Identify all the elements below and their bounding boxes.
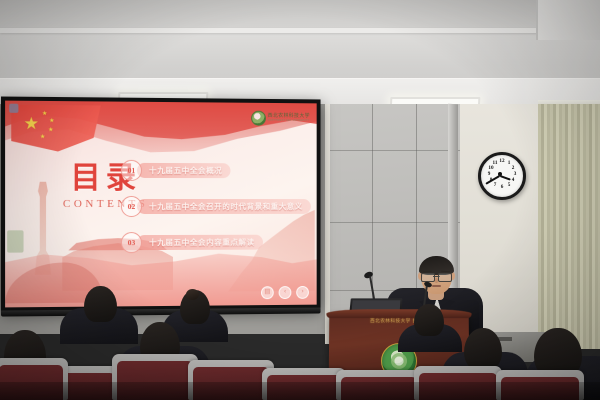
clock-numeral: 9	[485, 171, 493, 177]
flag-star: ★	[24, 115, 40, 132]
wall-clock: 12 1 2 3 4 5 6 7 8 9 10 11	[478, 152, 526, 200]
slide-next-button[interactable]: ›	[296, 286, 309, 299]
university-logo: 西北农林科技大学 NORTHWEST A&F UNIVERSITY	[251, 111, 310, 126]
clock-numeral: 6	[498, 184, 506, 190]
lectern-top	[326, 309, 471, 318]
list-item[interactable]: 01 十九届五中全会概况	[121, 160, 299, 181]
eyeglass-lens	[421, 273, 435, 282]
audience-head	[464, 328, 502, 370]
flag-star: ★	[49, 118, 54, 124]
flag-star: ★	[48, 127, 53, 133]
clock-center-pin	[498, 172, 502, 176]
audience-hair-bun	[186, 289, 199, 300]
lecture-hall-photo: 12 1 2 3 4 5 6 7 8 9 10 11 ★ ★ ★	[0, 0, 600, 400]
audience-head	[84, 286, 117, 322]
ceiling-beam	[0, 0, 600, 30]
list-item-label: 十九届五中全会概况	[137, 163, 230, 178]
slide-contents-list: 01 十九届五中全会概况 02 十九届五中全会召开的时代背景和重大意义 03 十…	[121, 160, 299, 268]
slide-prev-button[interactable]: ‹	[279, 286, 292, 299]
list-item-number: 03	[121, 232, 142, 253]
slide-navigation[interactable]: ▤ ‹ ›	[261, 286, 309, 299]
list-item-number: 02	[121, 196, 142, 217]
ceiling-beam-edge	[0, 28, 600, 33]
slide-overview-button[interactable]: ▤	[261, 286, 274, 299]
lectern-label: 西北农林科技大学 报告厅	[329, 318, 469, 324]
presenter-mouth	[432, 285, 441, 287]
clock-face: 12 1 2 3 4 5 6 7 8 9 10 11	[481, 155, 523, 197]
clock-hour-hand	[499, 175, 510, 181]
list-item-number: 01	[121, 160, 142, 181]
floor-shadow	[0, 382, 600, 400]
clock-numeral: 5	[505, 182, 513, 188]
list-item-label: 十九届五中全会召开的时代背景和重大意义	[137, 199, 311, 214]
projection-screen[interactable]: ★ ★ ★ ★ ★ 西北农林科技大学 NORTHWEST A&F UNIVERS…	[1, 96, 321, 311]
clock-numeral: 11	[491, 160, 499, 166]
flag-star: ★	[40, 134, 45, 140]
list-item[interactable]: 02 十九届五中全会召开的时代背景和重大意义	[121, 196, 299, 217]
presentation-slide[interactable]: ★ ★ ★ ★ ★ 西北农林科技大学 NORTHWEST A&F UNIVERS…	[5, 101, 317, 308]
slide-corner-badge	[9, 104, 18, 113]
window-curtain	[538, 104, 600, 349]
list-item[interactable]: 03 十九届五中全会内容重点解读	[121, 232, 299, 254]
presenter-nose	[435, 278, 438, 283]
slide-decor-foliage	[7, 230, 23, 252]
university-logo-icon	[251, 111, 266, 126]
eyeglass-lens	[438, 273, 452, 282]
audience-head	[414, 304, 444, 336]
flag-star: ★	[42, 111, 47, 117]
ceiling	[0, 0, 600, 110]
china-flag: ★ ★ ★ ★ ★	[11, 105, 101, 152]
ceiling-bulkhead	[536, 0, 600, 40]
list-item-label: 十九届五中全会内容重点解读	[137, 235, 263, 250]
university-name-en: NORTHWEST A&F UNIVERSITY	[268, 120, 310, 123]
